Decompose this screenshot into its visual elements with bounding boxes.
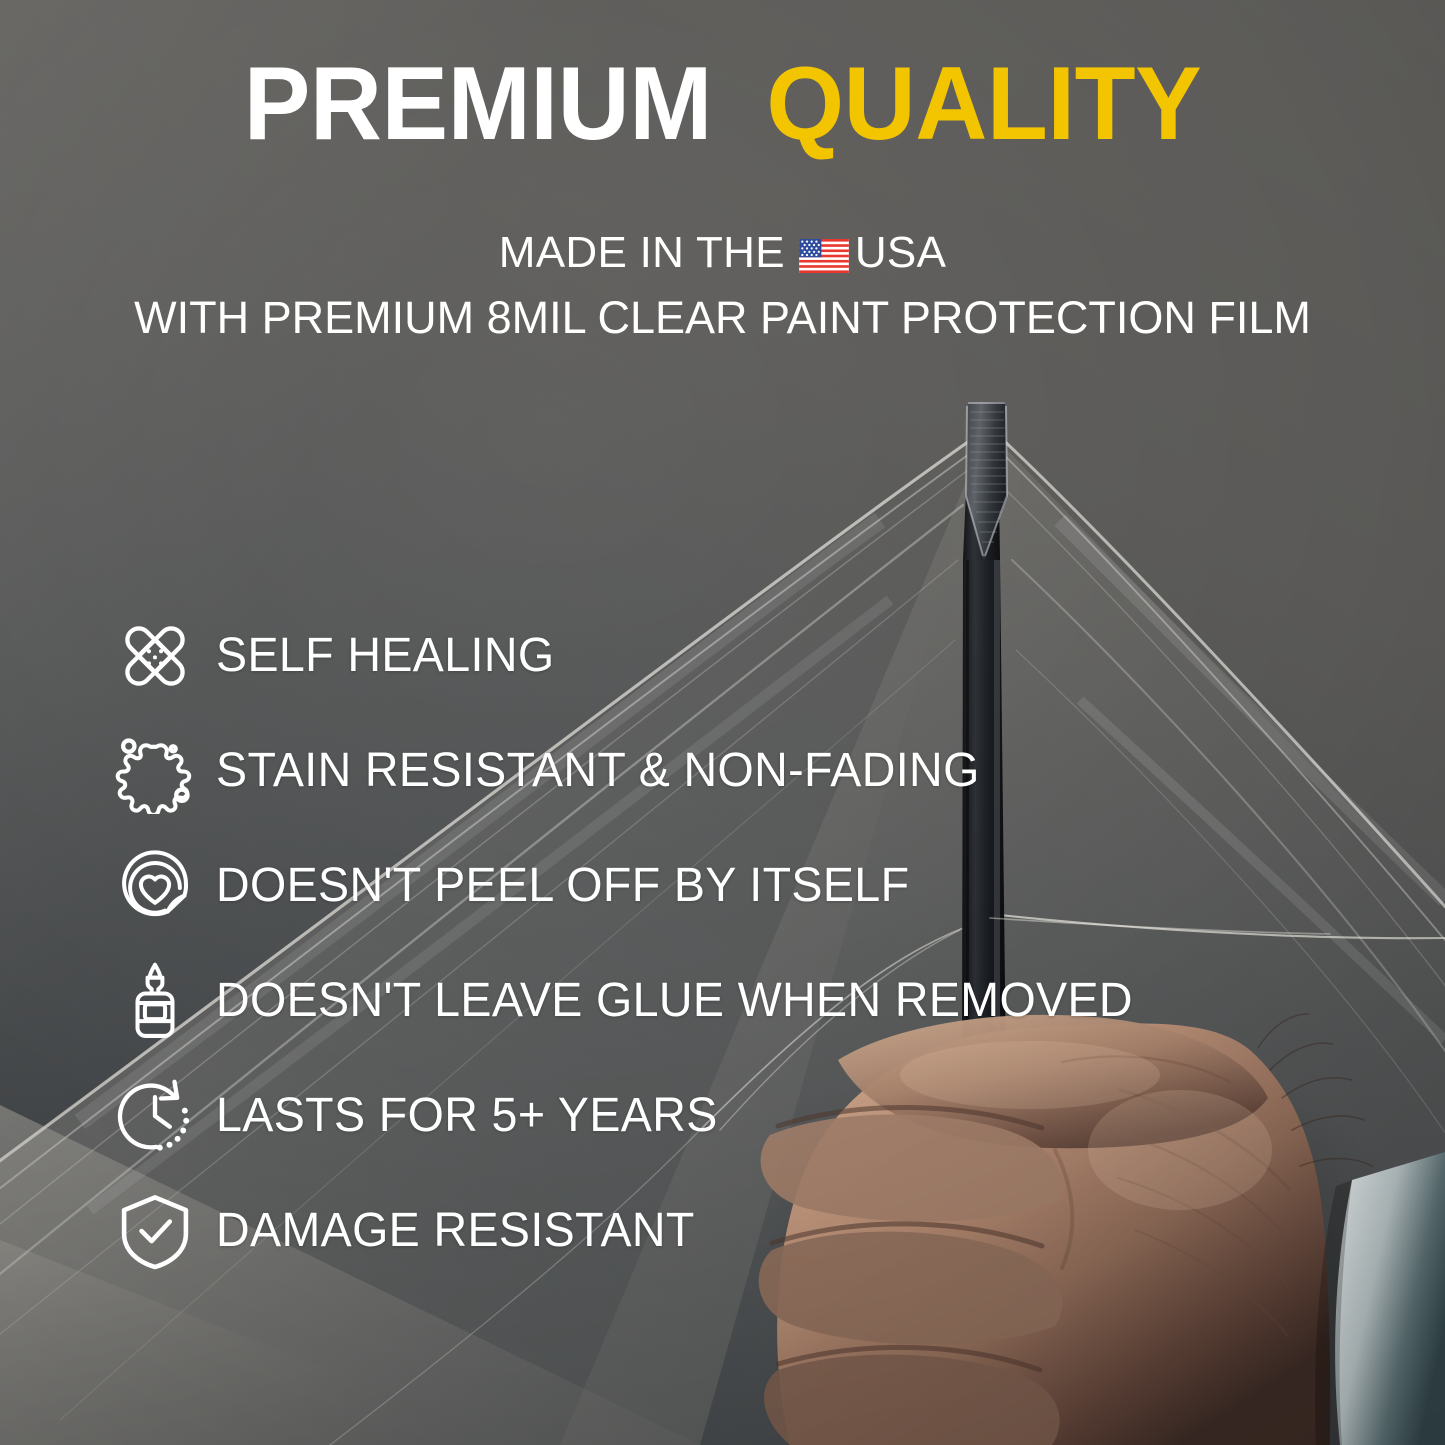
subtitle-usa: USA bbox=[855, 228, 946, 278]
bandage-cross-icon bbox=[112, 613, 198, 699]
feature-label-no-peel: DOESN'T PEEL OFF BY ITSELF bbox=[216, 858, 909, 913]
feature-label-damage-resistant: DAMAGE RESISTANT bbox=[216, 1203, 695, 1258]
headline-word-premium: PREMIUM bbox=[244, 46, 712, 162]
feature-label-no-glue: DOESN'T LEAVE GLUE WHEN REMOVED bbox=[216, 973, 1133, 1028]
glue-bottle-icon bbox=[112, 958, 198, 1044]
peeling-sticker-heart-icon bbox=[112, 843, 198, 929]
usa-flag-icon bbox=[797, 239, 851, 273]
stain-splat-icon bbox=[112, 728, 198, 814]
feature-row-no-glue: DOESN'T LEAVE GLUE WHEN REMOVED bbox=[112, 943, 1161, 1058]
feature-row-durability: LASTS FOR 5+ YEARS bbox=[112, 1058, 1161, 1173]
subtitle-line-2: WITH PREMIUM 8MIL CLEAR PAINT PROTECTION… bbox=[0, 292, 1445, 343]
subtitle-line-1: MADE IN THE bbox=[0, 228, 1445, 278]
headline-word-quality: QUALITY bbox=[766, 46, 1201, 162]
feature-label-stain-resistant: STAIN RESISTANT & NON-FADING bbox=[216, 743, 980, 798]
feature-row-no-peel: DOESN'T PEEL OFF BY ITSELF bbox=[112, 828, 1161, 943]
feature-label-self-healing: SELF HEALING bbox=[216, 628, 554, 683]
feature-row-stain-resistant: STAIN RESISTANT & NON-FADING bbox=[112, 713, 1161, 828]
feature-label-durability: LASTS FOR 5+ YEARS bbox=[216, 1088, 718, 1143]
page-title: PREMIUM QUALITY bbox=[29, 52, 1416, 156]
promo-image: PREMIUM QUALITY MADE IN THE bbox=[0, 0, 1445, 1445]
feature-row-damage-resistant: DAMAGE RESISTANT bbox=[112, 1173, 1161, 1288]
feature-row-self-healing: SELF HEALING bbox=[112, 598, 1161, 713]
subtitle-block: MADE IN THE bbox=[0, 228, 1445, 343]
feature-list: SELF HEALING STAIN RESISTANT & NON-FADIN… bbox=[112, 598, 1161, 1288]
subtitle-made-in-the: MADE IN THE bbox=[499, 228, 785, 278]
clock-arrow-icon bbox=[112, 1073, 198, 1159]
shield-check-icon bbox=[112, 1188, 198, 1274]
